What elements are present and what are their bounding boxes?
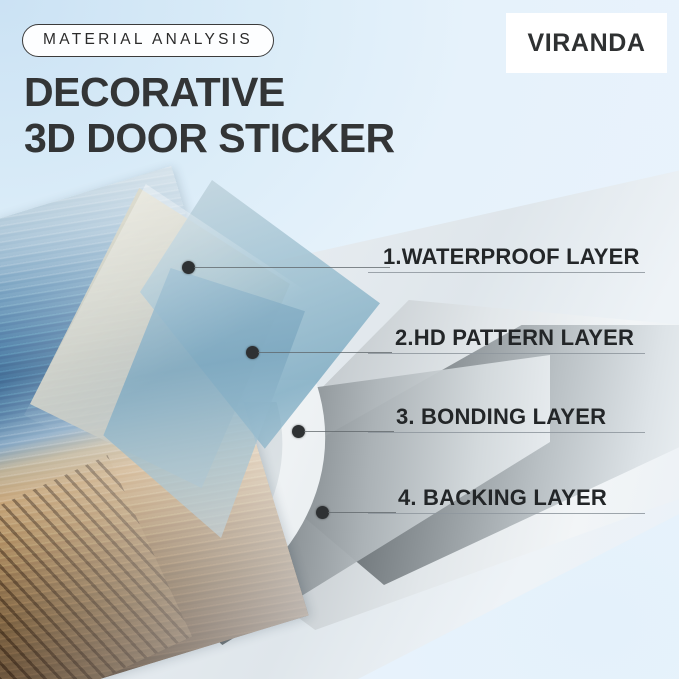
callout-label-2: 2.HD PATTERN LAYER (395, 325, 634, 351)
title-line-2: 3D DOOR STICKER (24, 116, 395, 162)
brand-name: VIRANDA (527, 29, 645, 58)
callout-underline-1 (368, 272, 645, 273)
callout-leader-1 (194, 267, 390, 268)
eyebrow-badge: MATERIAL ANALYSIS (22, 24, 274, 57)
brand-logo-box: VIRANDA (506, 13, 667, 73)
infographic-canvas: MATERIAL ANALYSIS DECORATIVE 3D DOOR STI… (0, 0, 679, 679)
callout-label-1: 1.WATERPROOF LAYER (383, 244, 640, 270)
callout-label-3: 3. BONDING LAYER (396, 404, 606, 430)
title-line-1: DECORATIVE (24, 69, 285, 115)
callout-underline-3 (368, 432, 645, 433)
callout-underline-2 (368, 353, 645, 354)
callout-underline-4 (368, 513, 645, 514)
page-title: DECORATIVE 3D DOOR STICKER (24, 70, 395, 161)
callout-label-4: 4. BACKING LAYER (398, 485, 607, 511)
